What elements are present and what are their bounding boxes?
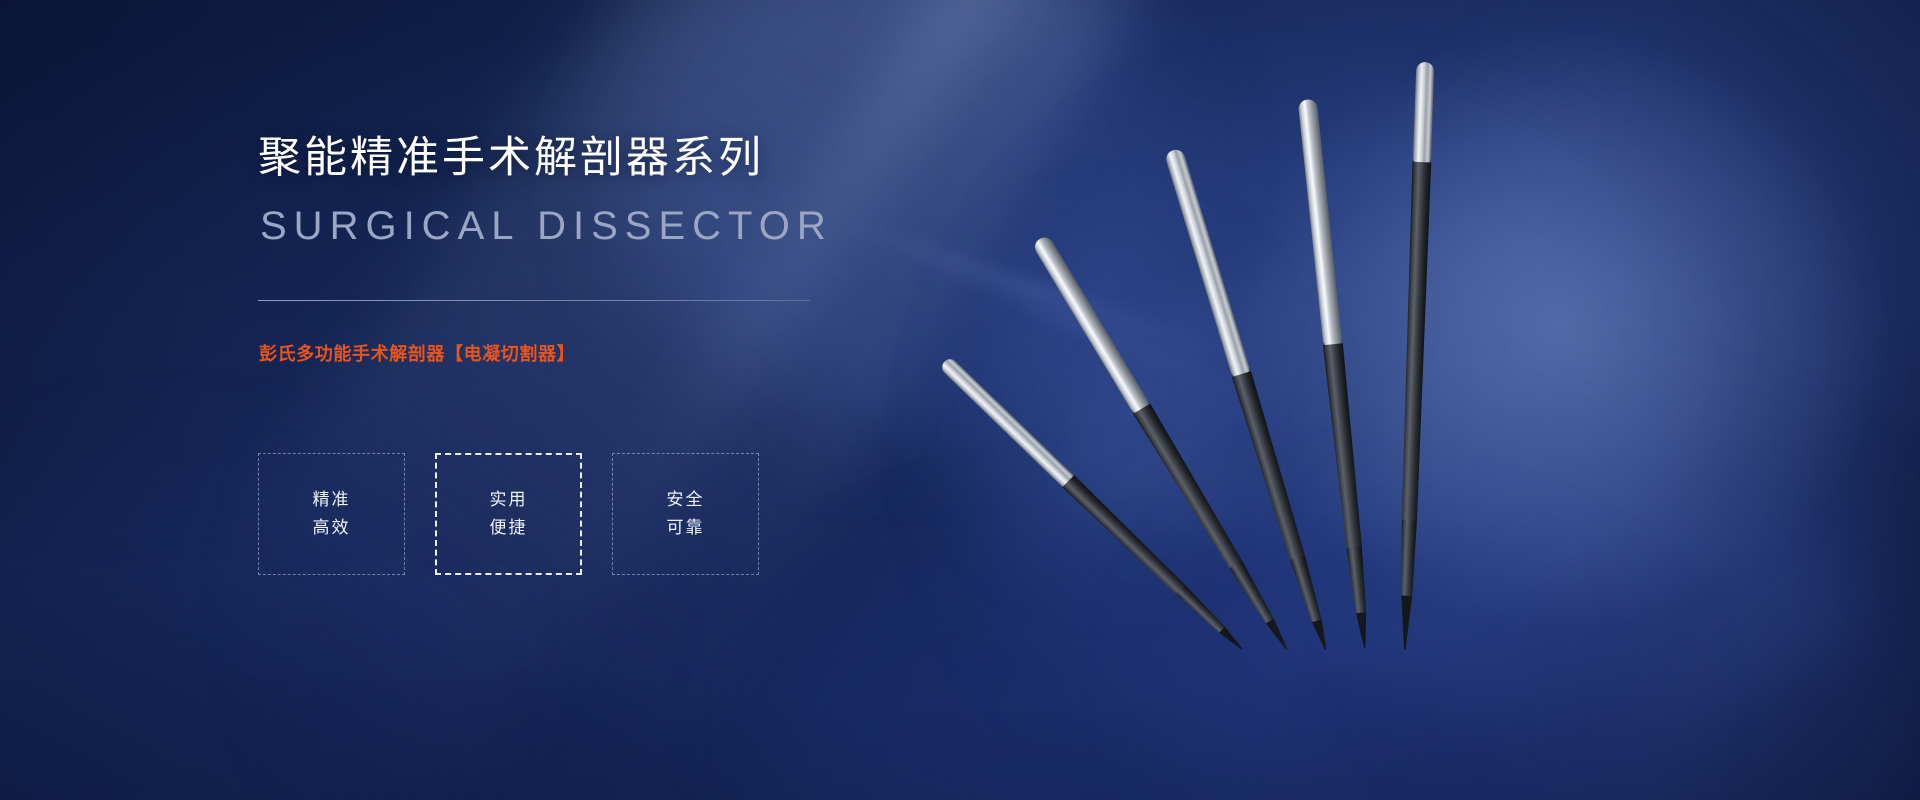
- background-blur-shape: [980, 120, 1680, 740]
- background-blur-shape: [1380, 60, 1860, 800]
- background-ghost-cuff: [1231, 443, 1870, 736]
- hero-banner: 聚能精准手术解剖器系列 SURGICAL DISSECTOR 彭氏多功能手术解剖…: [0, 0, 1920, 800]
- feature-line-2: 高效: [313, 514, 351, 542]
- feature-line-1: 安全: [667, 486, 705, 514]
- background-blur-shape: [980, 250, 1240, 550]
- feature-line-1: 精准: [313, 486, 351, 514]
- feature-line-2: 可靠: [667, 514, 705, 542]
- divider: [258, 300, 810, 301]
- product-name-highlight: 彭氏多功能手术解剖器【电凝切割器】: [259, 340, 575, 366]
- feature-box-precision[interactable]: 精准 高效: [258, 453, 405, 575]
- page-subtitle-english: SURGICAL DISSECTOR: [260, 204, 833, 248]
- feature-box-list: 精准 高效 实用 便捷 安全 可靠: [258, 453, 759, 575]
- background-blur-shape: [1180, 430, 1920, 800]
- feature-line-1: 实用: [490, 486, 528, 514]
- feature-box-safety[interactable]: 安全 可靠: [612, 453, 759, 575]
- background-ghost-forearm: [1043, 181, 1798, 578]
- page-title: 聚能精准手术解剖器系列: [258, 133, 764, 184]
- feature-box-practical[interactable]: 实用 便捷: [435, 453, 582, 575]
- feature-line-2: 便捷: [490, 514, 528, 542]
- hero-text-block: 聚能精准手术解剖器系列 SURGICAL DISSECTOR 彭氏多功能手术解剖…: [258, 0, 1018, 800]
